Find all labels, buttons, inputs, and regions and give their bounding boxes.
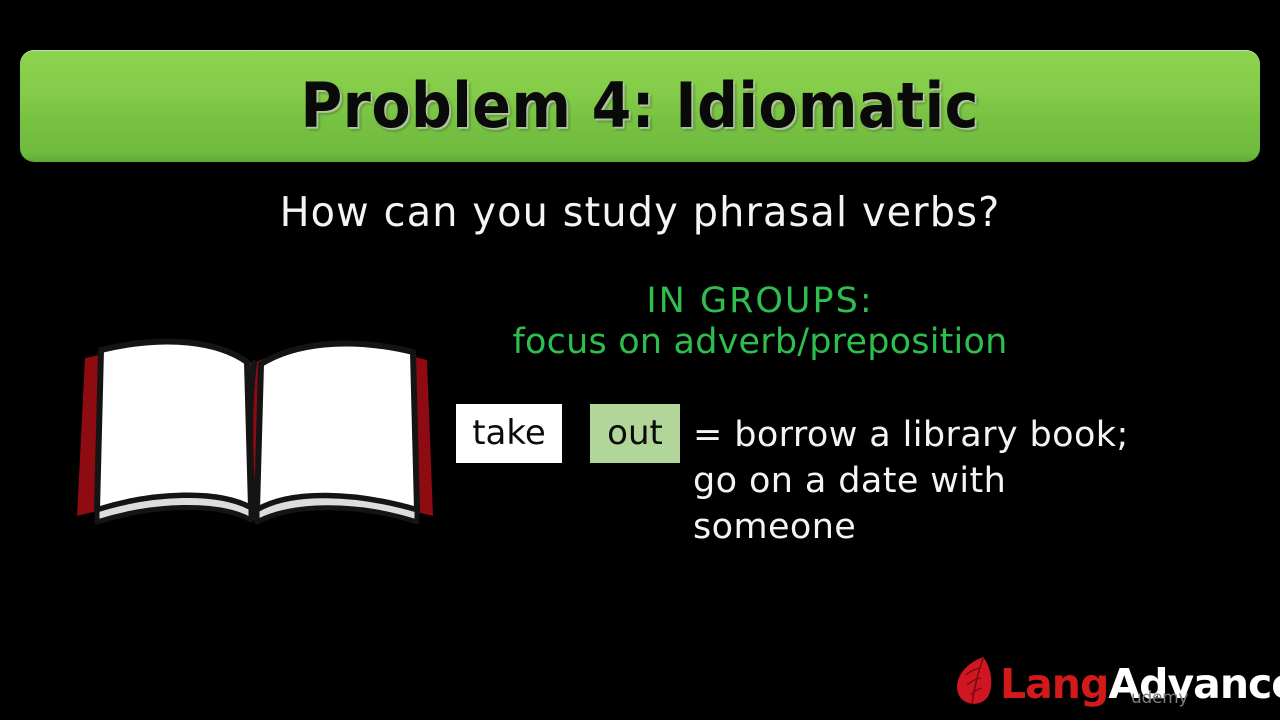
instruction-block: IN GROUPS: focus on adverb/preposition (440, 283, 1080, 365)
instruction-heading: IN GROUPS: (440, 283, 1080, 321)
verb-chip: take (456, 404, 562, 463)
brand-lang: Lang (1000, 660, 1108, 708)
definition-line-2: go on a date with (693, 458, 1129, 504)
brand-logo[interactable]: LangAdvance.com (952, 655, 1280, 707)
example-block: take out = borrow a library book; go on … (456, 404, 1236, 550)
slide-canvas: Problem 4: Idiomatic How can you study p… (0, 0, 1280, 720)
open-book-illustration (55, 320, 455, 555)
particle-chip: out (590, 404, 680, 463)
title-banner: Problem 4: Idiomatic (20, 50, 1260, 162)
question-text: How can you study phrasal verbs? (19, 188, 1261, 236)
leaf-icon (952, 655, 996, 707)
definition-line-1: = borrow a library book; (693, 412, 1129, 458)
definition-line-3: someone (693, 504, 1129, 550)
open-book-icon (55, 320, 455, 555)
definition-text: = borrow a library book; go on a date wi… (693, 404, 1129, 550)
instruction-detail: focus on adverb/preposition (440, 321, 1080, 365)
page-title: Problem 4: Idiomatic (301, 75, 979, 137)
platform-watermark: udemy (1131, 688, 1188, 708)
example-row: take out = borrow a library book; go on … (456, 404, 1236, 550)
